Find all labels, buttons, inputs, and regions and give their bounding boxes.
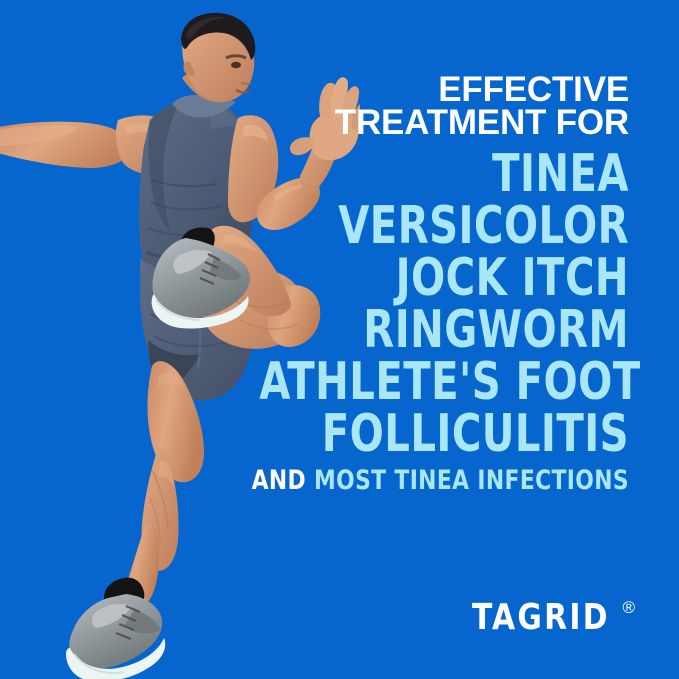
list-item: JOCK ITCH	[259, 252, 629, 304]
list-item: ATHLETE'S FOOT	[259, 356, 629, 408]
condition-list: TINEA VERSICOLOR JOCK ITCH RINGWORM ATHL…	[199, 148, 629, 460]
footnote-prefix: AND	[252, 465, 306, 496]
list-item: VERSICOLOR	[259, 200, 629, 252]
registered-trademark-icon: ®	[622, 599, 635, 616]
brand-name: TAGRID	[472, 601, 610, 635]
list-item: TINEA	[259, 148, 629, 200]
footnote-rest: MOST TINEA INFECTIONS	[314, 465, 629, 496]
ad-copy-block: EFFECTIVE TREATMENT FOR TINEA VERSICOLOR…	[199, 74, 629, 496]
headline-line-1: EFFECTIVE	[199, 74, 629, 107]
brand-logo: TAGRID ®	[472, 601, 635, 635]
list-item: RINGWORM	[259, 304, 629, 356]
footnote-line: AND MOST TINEA INFECTIONS	[242, 466, 629, 496]
advertisement-banner: EFFECTIVE TREATMENT FOR TINEA VERSICOLOR…	[0, 0, 679, 679]
list-item: FOLLICULITIS	[259, 408, 629, 460]
page-title: EFFECTIVE TREATMENT FOR	[199, 74, 629, 140]
headline-line-2: TREATMENT FOR	[199, 107, 629, 140]
